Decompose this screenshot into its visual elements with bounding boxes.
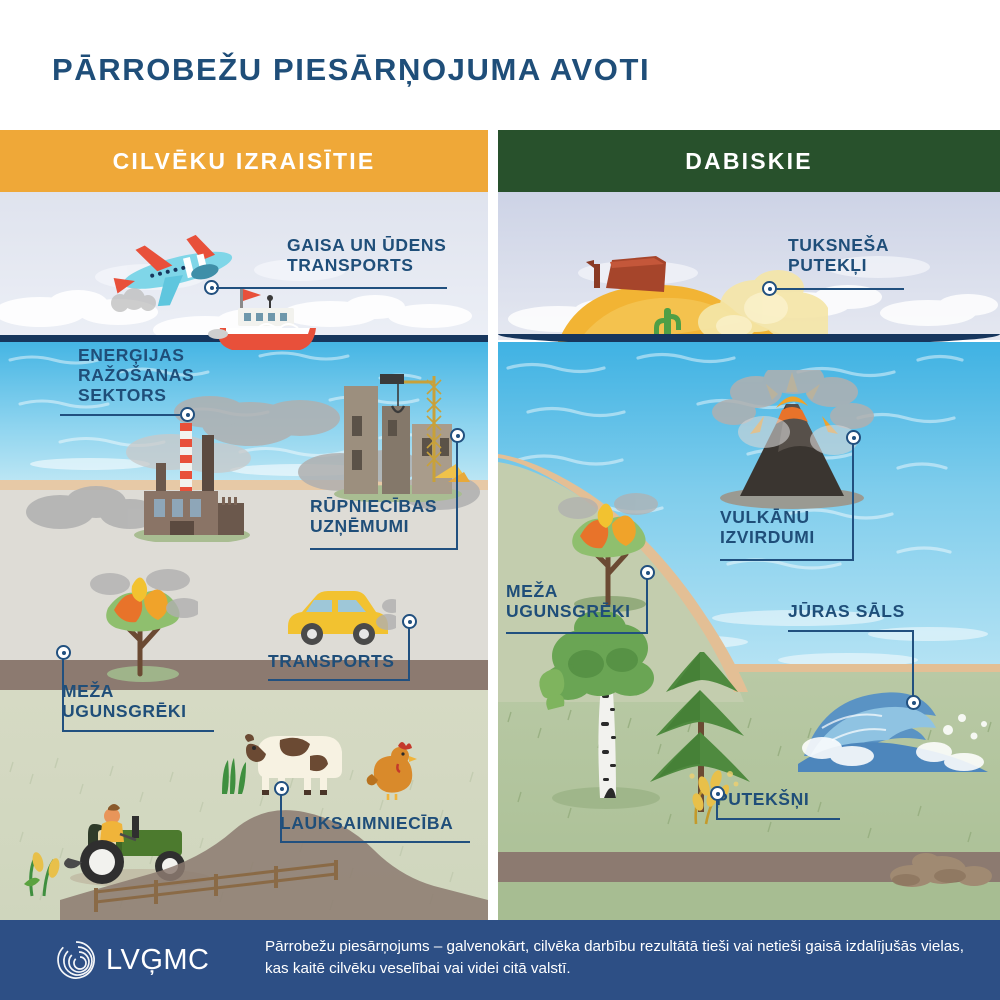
label-meza-ugunsgreki-left: MEŽA UGUNSGRĒKI xyxy=(62,682,187,722)
desert-mesa-icon xyxy=(538,250,828,346)
label-tuksnesa-putekli: TUKSNEŠA PUTEKĻI xyxy=(788,236,889,276)
connector-line-6 xyxy=(280,841,470,843)
connector-dot-4 xyxy=(402,614,417,629)
connector-line-1 xyxy=(287,287,447,289)
chicken-icon xyxy=(362,740,418,800)
banner-natural: DABISKIE xyxy=(498,130,1000,192)
label-energijas-razosanas-sektors: ENERĢIJAS RAŽOŠANAS SEKTORS xyxy=(78,346,194,406)
label-transports: TRANSPORTS xyxy=(268,652,395,672)
label-juras-sals: JŪRAS SĀLS xyxy=(788,602,905,622)
spiral-icon xyxy=(52,936,100,984)
rocks-icon xyxy=(886,842,1000,890)
grass-tuft-icon xyxy=(216,754,250,796)
burning-tree-icon-left xyxy=(88,564,198,682)
connector-dot-6 xyxy=(274,781,289,796)
banner-natural-label: DABISKIE xyxy=(685,148,813,175)
connector-line-r5 xyxy=(716,818,840,820)
logo-text: LVĢMC xyxy=(106,944,209,977)
connector-dot-r3 xyxy=(906,695,921,710)
connector-vline-6 xyxy=(280,788,282,842)
connector-vline-3 xyxy=(456,434,458,550)
connector-vline-r2 xyxy=(852,436,854,560)
connector-dot-r4 xyxy=(640,565,655,580)
connector-line-1b xyxy=(216,287,288,289)
connector-dot-3 xyxy=(450,428,465,443)
yellow-car-icon xyxy=(276,582,396,652)
label-gaisa-un-udens-transports: GAISA UN ŪDENS TRANSPORTS xyxy=(287,236,446,276)
infographic-page: PĀRROBEŽU PIESĀRŅOJUMA AVOTI CILVĒKU IZR… xyxy=(0,0,1000,1000)
ocean-wave-icon xyxy=(798,652,1000,782)
page-title: PĀRROBEŽU PIESĀRŅOJUMA AVOTI xyxy=(52,52,952,88)
connector-line-r4 xyxy=(506,632,648,634)
banner-human-caused: CILVĒKU IZRAISĪTIE xyxy=(0,130,488,192)
label-meza-ugunsgreki-right: MEŽA UGUNSGRĒKI xyxy=(506,582,631,622)
connector-line-5 xyxy=(62,730,214,732)
fence-icon xyxy=(88,852,408,920)
cow-icon xyxy=(240,722,350,797)
label-puteksni: PUTEKŠŅI xyxy=(716,790,809,810)
connector-vline-4 xyxy=(408,620,410,680)
connector-line-4 xyxy=(268,679,410,681)
connector-line-2 xyxy=(60,414,180,416)
connector-vline-5 xyxy=(62,652,64,731)
banner-human-caused-label: CILVĒKU IZRAISĪTIE xyxy=(113,148,376,175)
connector-line-r2 xyxy=(720,559,854,561)
label-lauksaimnieciba: LAUKSAIMNIECĪBA xyxy=(280,814,453,834)
connector-line-r1 xyxy=(776,288,904,290)
connector-dot-r1 xyxy=(762,281,777,296)
factory-with-crane-icon xyxy=(330,372,470,502)
connector-dot-5 xyxy=(56,645,71,660)
panel-human-caused: GAISA UN ŪDENS TRANSPORTS ENERĢIJAS RAŽO… xyxy=(0,192,488,920)
power-plant-icon xyxy=(130,417,260,542)
panel-natural: TUKSNEŠA PUTEKĻI VULKĀNU IZVIRDUMI JŪRAS… xyxy=(498,192,1000,920)
connector-line-r3 xyxy=(788,630,914,632)
connector-line-3 xyxy=(310,548,458,550)
connector-dot-r5 xyxy=(710,786,725,801)
connector-vline-r3 xyxy=(912,630,914,702)
label-rupniecibas-uznemumi: RŪPNIECĪBAS UZŅĒMUMI xyxy=(310,497,437,537)
label-vulkanu-izvirdumi: VULKĀNU IZVIRDUMI xyxy=(720,508,815,548)
connector-dot-r2 xyxy=(846,430,861,445)
ship-icon xyxy=(196,282,326,364)
connector-dot-2 xyxy=(180,407,195,422)
footer-caption: Pārrobežu piesārņojums – galvenokārt, ci… xyxy=(265,936,980,980)
connector-vline-r4 xyxy=(646,572,648,633)
